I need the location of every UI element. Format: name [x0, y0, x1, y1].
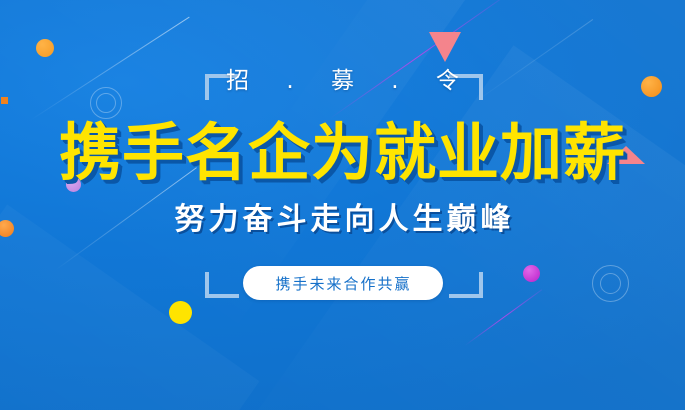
cta-button[interactable]: 携手未来合作共赢	[243, 266, 443, 300]
ring-top-left-inner	[96, 93, 116, 113]
recruitment-banner: 招 . 募 . 令 携手名企为就业加薪 努力奋斗走向人生巅峰 携手未来合作共赢	[0, 0, 685, 410]
subheadline-text: 努力奋斗走向人生巅峰	[0, 205, 685, 235]
eyebrow-text: 招 . 募 . 令	[0, 70, 685, 93]
dot-orange-left-edge	[1, 97, 8, 104]
triangle-down-icon	[429, 32, 461, 62]
cta-container: 携手未来合作共赢	[0, 266, 685, 300]
dot-yellow-bottom-left	[169, 301, 192, 324]
headline-text: 携手名企为就业加薪	[0, 122, 685, 184]
dot-orange-top-left	[36, 39, 54, 57]
